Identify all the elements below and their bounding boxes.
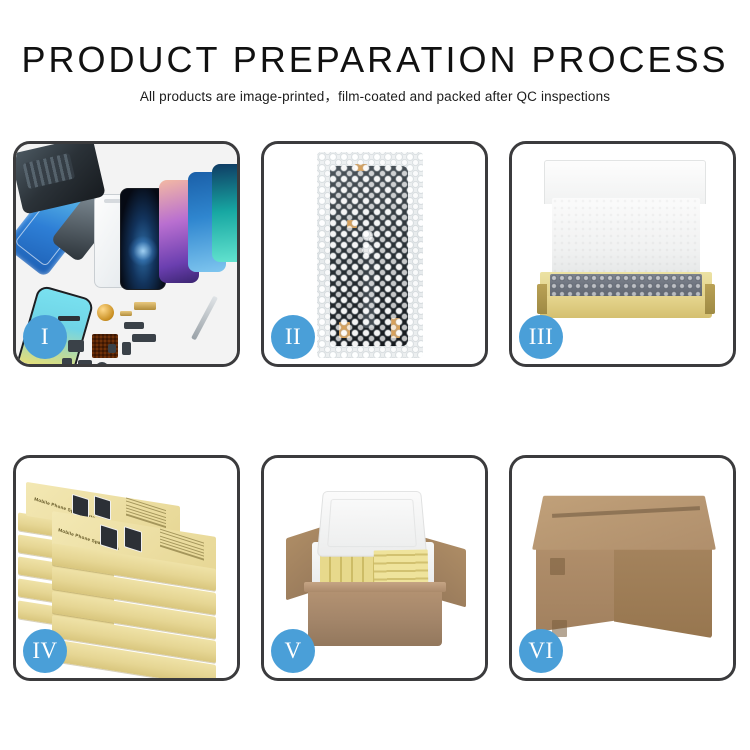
sealed-carton-top xyxy=(532,496,716,550)
inner-box-right-flap xyxy=(705,284,715,314)
part-flex-8 xyxy=(108,344,116,353)
process-steps-grid: I II xyxy=(13,141,737,681)
box-label-phone-b1 xyxy=(100,524,118,551)
box-label-phone-b2 xyxy=(124,526,142,553)
part-flex-6 xyxy=(124,322,144,329)
part-gold-1 xyxy=(134,302,156,310)
part-flex-1 xyxy=(68,340,84,352)
inner-box-left-flap xyxy=(537,284,547,314)
carton-rim xyxy=(304,582,446,592)
speaker-module-graphic xyxy=(97,304,114,321)
box-label-lines-b xyxy=(160,529,204,563)
part-flex-4 xyxy=(96,362,108,364)
inner-box-front-wall xyxy=(540,296,712,318)
page-subtitle: All products are image-printed，film-coat… xyxy=(0,90,750,104)
step-panel-4[interactable]: Mobile Phone Spare Parts Mobile Phone Sp… xyxy=(13,455,240,681)
step-badge-3: III xyxy=(519,315,563,359)
sealed-carton-left-face xyxy=(536,536,616,632)
carton-tape-upper xyxy=(550,558,565,575)
screwdriver-graphic xyxy=(191,296,218,341)
bubble-texture xyxy=(317,152,423,358)
part-flex-7 xyxy=(132,334,156,342)
step-badge-4: IV xyxy=(23,629,67,673)
step-panel-1[interactable]: I xyxy=(13,141,240,367)
part-flex-2 xyxy=(62,358,72,364)
step-badge-6: VI xyxy=(519,629,563,673)
step-badge-1: I xyxy=(23,315,67,359)
step-panel-2[interactable]: II xyxy=(261,141,488,367)
box-label-phone-a2 xyxy=(94,495,111,520)
foam-box-lid xyxy=(317,491,427,557)
step-badge-2: II xyxy=(271,315,315,359)
carton-body xyxy=(308,586,442,646)
step-panel-6[interactable]: VI xyxy=(509,455,736,681)
step-badge-5: V xyxy=(271,629,315,673)
yellow-boxes-row-2 xyxy=(374,550,429,587)
step-panel-3[interactable]: III xyxy=(509,141,736,367)
white-foam-sheet xyxy=(552,198,700,274)
page-title: PRODUCT PREPARATION PROCESS xyxy=(0,42,750,78)
part-flex-3 xyxy=(78,360,92,364)
part-bar-1 xyxy=(58,316,80,321)
teal-phone-graphic xyxy=(212,164,237,262)
bubble-wrap-bag xyxy=(317,152,423,358)
step-panel-5[interactable]: V xyxy=(261,455,488,681)
part-gold-2 xyxy=(120,311,132,316)
part-flex-5 xyxy=(122,342,131,355)
product-preparation-infographic: PRODUCT PREPARATION PROCESS All products… xyxy=(0,0,750,750)
